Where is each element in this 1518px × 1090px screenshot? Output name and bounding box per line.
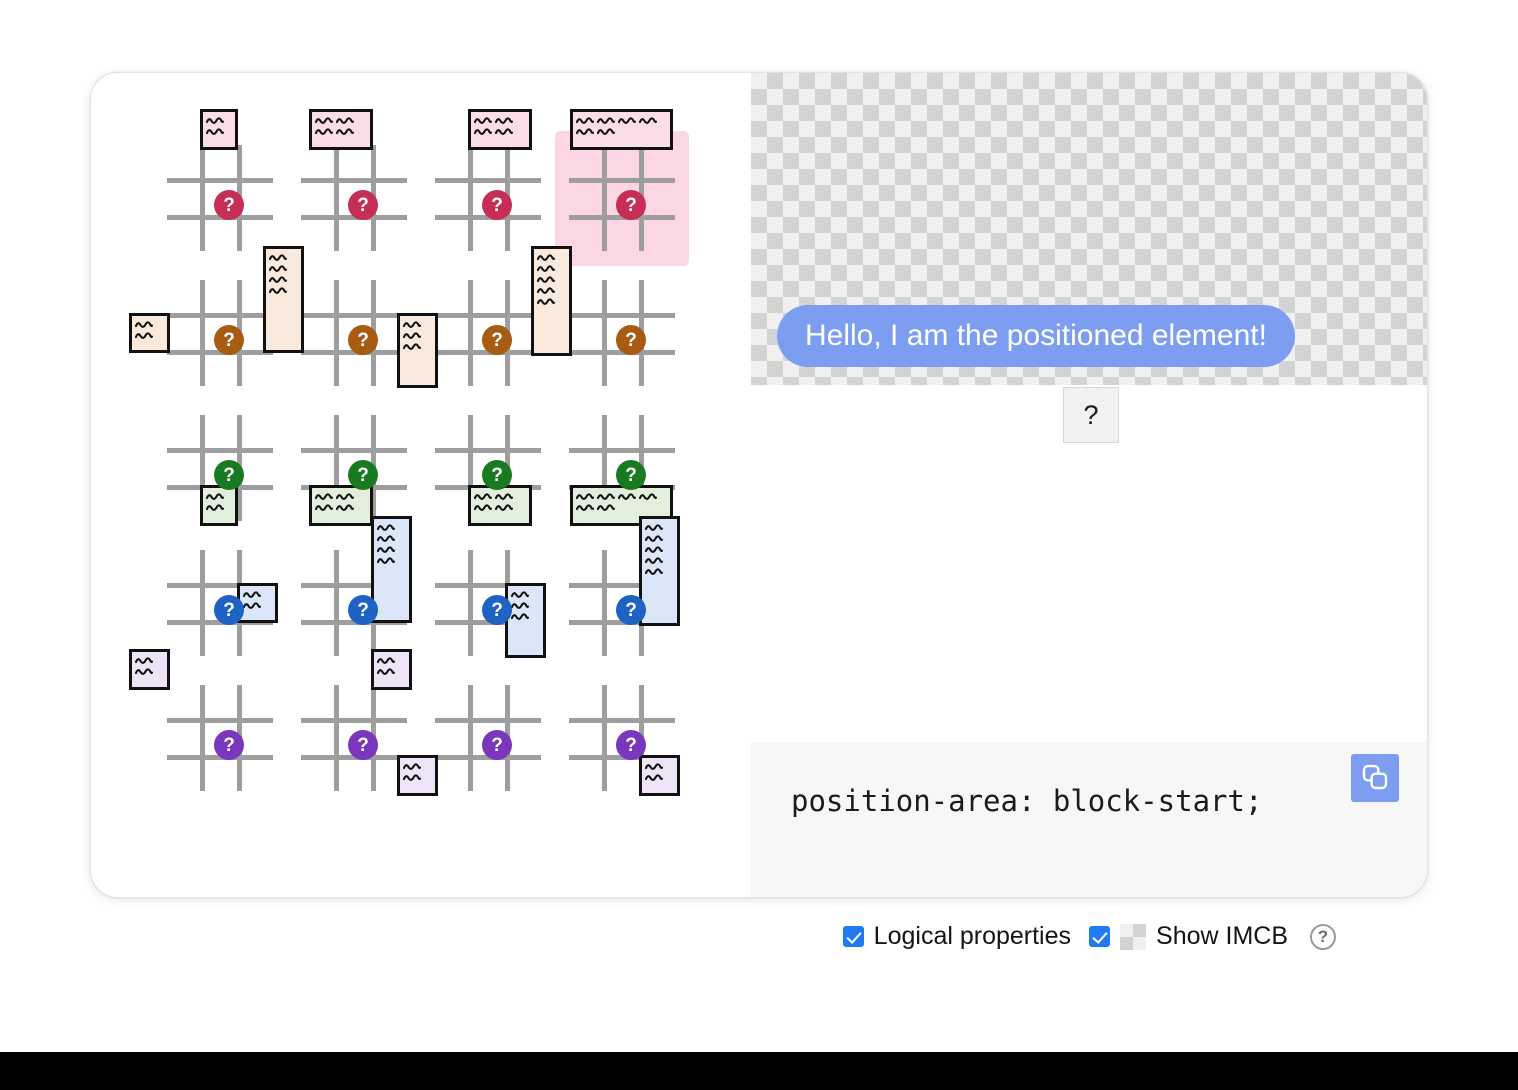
anchor-dot-icon: ? xyxy=(214,325,244,355)
anchor-dot-icon: ? xyxy=(482,190,512,220)
anchor-dot-icon: ? xyxy=(348,325,378,355)
grid-line-h1 xyxy=(167,313,273,318)
help-icon[interactable]: ? xyxy=(1310,924,1336,950)
positioned-box-preview xyxy=(397,755,438,796)
squiggle-line-icon xyxy=(269,275,287,284)
grid-line-v1 xyxy=(602,280,607,386)
containing-block-grid: ? xyxy=(569,280,675,386)
containing-block-grid: ? xyxy=(301,145,407,251)
grid-line-h1 xyxy=(569,448,675,453)
position-area-option-3-3[interactable]: ? xyxy=(555,536,689,671)
squiggle-line-icon xyxy=(495,492,513,501)
position-area-option-0-1[interactable]: ? xyxy=(287,131,421,266)
positioned-box-preview xyxy=(505,583,546,658)
position-area-picker: ???????????????????? xyxy=(91,73,751,897)
code-panel: position-area: block-start; xyxy=(751,742,1427,897)
squiggle-line-icon xyxy=(135,331,153,340)
positioned-box-preview xyxy=(639,755,680,796)
positioned-box-preview xyxy=(397,313,438,388)
grid-line-h1 xyxy=(435,448,541,453)
grid-line-v1 xyxy=(334,550,339,656)
squiggle-line-icon xyxy=(336,492,354,501)
squiggle-line-icon xyxy=(377,656,395,665)
squiggle-line-icon xyxy=(537,264,555,273)
squiggle-line-icon xyxy=(495,503,513,512)
squiggle-line-icon xyxy=(645,556,663,565)
squiggle-line-icon xyxy=(336,503,354,512)
squiggle-line-icon xyxy=(645,762,663,771)
grid-line-v1 xyxy=(468,280,473,386)
squiggle-line-icon xyxy=(495,116,513,125)
squiggle-line-icon xyxy=(269,264,287,273)
squiggle-line-icon xyxy=(597,503,615,512)
squiggle-line-icon xyxy=(377,667,395,676)
position-area-option-2-2[interactable]: ? xyxy=(421,401,555,536)
containing-block-grid: ? xyxy=(569,145,675,251)
grid-line-h1 xyxy=(301,448,407,453)
containing-block-grid: ? xyxy=(435,685,541,791)
grid-line-h1 xyxy=(167,178,273,183)
grid-line-v1 xyxy=(334,280,339,386)
grid-line-v1 xyxy=(200,280,205,386)
squiggle-line-icon xyxy=(403,773,421,782)
containing-block-grid: ? xyxy=(167,415,273,521)
footer-bar xyxy=(0,1052,1518,1090)
show-imcb-label: Show IMCB xyxy=(1156,922,1288,951)
squiggle-line-icon xyxy=(206,503,224,512)
containing-block-grid: ? xyxy=(569,415,675,521)
anchor-dot-icon: ? xyxy=(482,595,512,625)
position-area-option-1-3[interactable]: ? xyxy=(555,266,689,401)
grid-line-h1 xyxy=(569,178,675,183)
containing-block-grid: ? xyxy=(301,415,407,521)
positioned-box-preview xyxy=(200,485,238,526)
grid-line-h1 xyxy=(167,448,273,453)
containing-block-grid: ? xyxy=(301,550,407,656)
squiggle-line-icon xyxy=(336,127,354,136)
squiggle-line-icon xyxy=(206,127,224,136)
grid-line-h1 xyxy=(167,718,273,723)
grid-line-v1 xyxy=(602,550,607,656)
grid-line-h1 xyxy=(301,718,407,723)
squiggle-line-icon xyxy=(537,253,555,262)
copy-icon xyxy=(1360,762,1390,795)
squiggle-line-icon xyxy=(403,320,421,329)
position-area-grid: ???????????????????? xyxy=(153,131,695,806)
position-area-option-3-0[interactable]: ? xyxy=(153,536,287,671)
anchor-dot-icon: ? xyxy=(348,460,378,490)
squiggle-line-icon xyxy=(315,503,333,512)
positioned-box-preview xyxy=(371,649,412,690)
containing-block-grid: ? xyxy=(435,280,541,386)
squiggle-line-icon xyxy=(315,116,333,125)
position-area-card: ???????????????????? Hello, I am the pos… xyxy=(90,72,1428,898)
grid-line-h1 xyxy=(435,718,541,723)
containing-block-grid: ? xyxy=(167,280,273,386)
containing-block-grid: ? xyxy=(301,685,407,791)
anchor-element-box[interactable]: ? xyxy=(1063,387,1119,443)
grid-line-h1 xyxy=(435,313,541,318)
squiggle-line-icon xyxy=(537,297,555,306)
anchor-dot-icon: ? xyxy=(616,730,646,760)
squiggle-line-icon xyxy=(495,127,513,136)
logical-properties-label: Logical properties xyxy=(874,922,1071,951)
anchor-dot-icon: ? xyxy=(348,190,378,220)
bottom-controls: Logical properties Show IMCB ? xyxy=(0,922,1428,951)
anchor-dot-icon: ? xyxy=(214,730,244,760)
squiggle-line-icon xyxy=(206,492,224,501)
squiggle-line-icon xyxy=(377,556,395,565)
squiggle-line-icon xyxy=(243,601,261,610)
squiggle-line-icon xyxy=(135,667,153,676)
containing-block-grid: ? xyxy=(435,550,541,656)
preview-pane: Hello, I am the positioned element! ? po… xyxy=(751,73,1427,897)
anchor-dot-icon: ? xyxy=(214,460,244,490)
positioned-box-preview xyxy=(309,485,373,526)
containing-block-grid: ? xyxy=(301,280,407,386)
grid-line-v1 xyxy=(200,685,205,791)
squiggle-line-icon xyxy=(135,656,153,665)
position-area-option-3-2[interactable]: ? xyxy=(421,536,555,671)
positioned-box-preview xyxy=(129,649,170,690)
squiggle-line-icon xyxy=(269,286,287,295)
positioned-box-preview xyxy=(570,109,673,150)
positioned-box-preview xyxy=(263,246,304,353)
position-area-option-4-0[interactable]: ? xyxy=(153,671,287,806)
squiggle-line-icon xyxy=(537,286,555,295)
positioned-box-preview xyxy=(200,109,238,150)
squiggle-line-icon xyxy=(403,762,421,771)
grid-line-v1 xyxy=(468,145,473,251)
grid-line-h1 xyxy=(569,718,675,723)
squiggle-line-icon xyxy=(645,773,663,782)
squiggle-line-icon xyxy=(377,523,395,532)
grid-line-v1 xyxy=(200,550,205,656)
positioned-box-preview xyxy=(468,109,532,150)
squiggle-line-icon xyxy=(403,331,421,340)
squiggle-line-icon xyxy=(645,567,663,576)
grid-line-v1 xyxy=(602,685,607,791)
code-declaration: position-area: block-start; xyxy=(791,784,1262,818)
grid-line-v1 xyxy=(200,145,205,251)
positioned-box-preview xyxy=(309,109,373,150)
squiggle-line-icon xyxy=(315,127,333,136)
anchor-dot-icon: ? xyxy=(482,730,512,760)
squiggle-line-icon xyxy=(403,342,421,351)
squiggle-line-icon xyxy=(511,590,529,599)
app-root: ???????????????????? Hello, I am the pos… xyxy=(0,0,1518,1090)
squiggle-line-icon xyxy=(511,612,529,621)
logical-properties-checkbox[interactable] xyxy=(843,926,864,947)
squiggle-line-icon xyxy=(474,127,492,136)
squiggle-line-icon xyxy=(576,116,594,125)
squiggle-line-icon xyxy=(597,116,615,125)
containing-block-grid: ? xyxy=(167,685,273,791)
position-area-option-4-2[interactable]: ? xyxy=(421,671,555,806)
containing-block-grid: ? xyxy=(569,685,675,791)
anchor-dot-icon: ? xyxy=(482,460,512,490)
grid-line-h1 xyxy=(301,178,407,183)
anchor-dot-icon: ? xyxy=(482,325,512,355)
squiggle-line-icon xyxy=(645,523,663,532)
squiggle-line-icon xyxy=(618,116,636,125)
squiggle-line-icon xyxy=(474,503,492,512)
positioned-box-preview xyxy=(468,485,532,526)
grid-line-v1 xyxy=(334,145,339,251)
show-imcb-control: Show IMCB ? xyxy=(1089,922,1336,951)
squiggle-line-icon xyxy=(474,116,492,125)
squiggle-line-icon xyxy=(377,534,395,543)
anchor-dot-icon: ? xyxy=(616,325,646,355)
positioned-box-preview xyxy=(531,246,572,356)
copy-button[interactable] xyxy=(1351,754,1399,802)
squiggle-line-icon xyxy=(336,116,354,125)
grid-line-h1 xyxy=(435,178,541,183)
containing-block-grid: ? xyxy=(435,145,541,251)
containing-block-grid: ? xyxy=(167,145,273,251)
squiggle-line-icon xyxy=(135,320,153,329)
anchor-dot-icon: ? xyxy=(348,595,378,625)
positioned-box-preview xyxy=(129,313,170,353)
squiggle-line-icon xyxy=(315,492,333,501)
anchor-dot-icon: ? xyxy=(616,595,646,625)
squiggle-line-icon xyxy=(645,545,663,554)
grid-line-v1 xyxy=(602,145,607,251)
grid-line-v1 xyxy=(468,685,473,791)
squiggle-line-icon xyxy=(537,275,555,284)
grid-line-v1 xyxy=(334,685,339,791)
squiggle-line-icon xyxy=(377,545,395,554)
squiggle-line-icon xyxy=(576,127,594,136)
squiggle-line-icon xyxy=(618,492,636,501)
grid-line-h1 xyxy=(301,313,407,318)
squiggle-line-icon xyxy=(269,253,287,262)
squiggle-line-icon xyxy=(243,590,261,599)
containing-block-grid: ? xyxy=(435,415,541,521)
squiggle-line-icon xyxy=(206,116,224,125)
squiggle-line-icon xyxy=(639,492,657,501)
squiggle-line-icon xyxy=(474,492,492,501)
anchor-dot-icon: ? xyxy=(616,460,646,490)
squiggle-line-icon xyxy=(597,492,615,501)
anchor-dot-icon: ? xyxy=(616,190,646,220)
squiggle-line-icon xyxy=(645,534,663,543)
position-area-option-2-0[interactable]: ? xyxy=(153,401,287,536)
squiggle-line-icon xyxy=(597,127,615,136)
checkerboard-swatch-icon xyxy=(1120,924,1146,950)
position-area-option-4-3[interactable]: ? xyxy=(555,671,689,806)
containing-block-grid: ? xyxy=(569,550,675,656)
anchor-dot-icon: ? xyxy=(348,730,378,760)
containing-block-grid: ? xyxy=(167,550,273,656)
squiggle-line-icon xyxy=(511,601,529,610)
squiggle-line-icon xyxy=(576,503,594,512)
grid-line-v1 xyxy=(468,550,473,656)
grid-line-h1 xyxy=(569,313,675,318)
positioned-element-bubble[interactable]: Hello, I am the positioned element! xyxy=(777,305,1295,367)
squiggle-line-icon xyxy=(639,116,657,125)
logical-properties-control: Logical properties xyxy=(843,922,1071,951)
positioned-box-preview xyxy=(237,583,278,623)
anchor-dot-icon: ? xyxy=(214,190,244,220)
anchor-dot-icon: ? xyxy=(214,595,244,625)
show-imcb-checkbox[interactable] xyxy=(1089,926,1110,947)
squiggle-line-icon xyxy=(576,492,594,501)
position-area-option-0-3[interactable]: ? xyxy=(555,131,689,266)
